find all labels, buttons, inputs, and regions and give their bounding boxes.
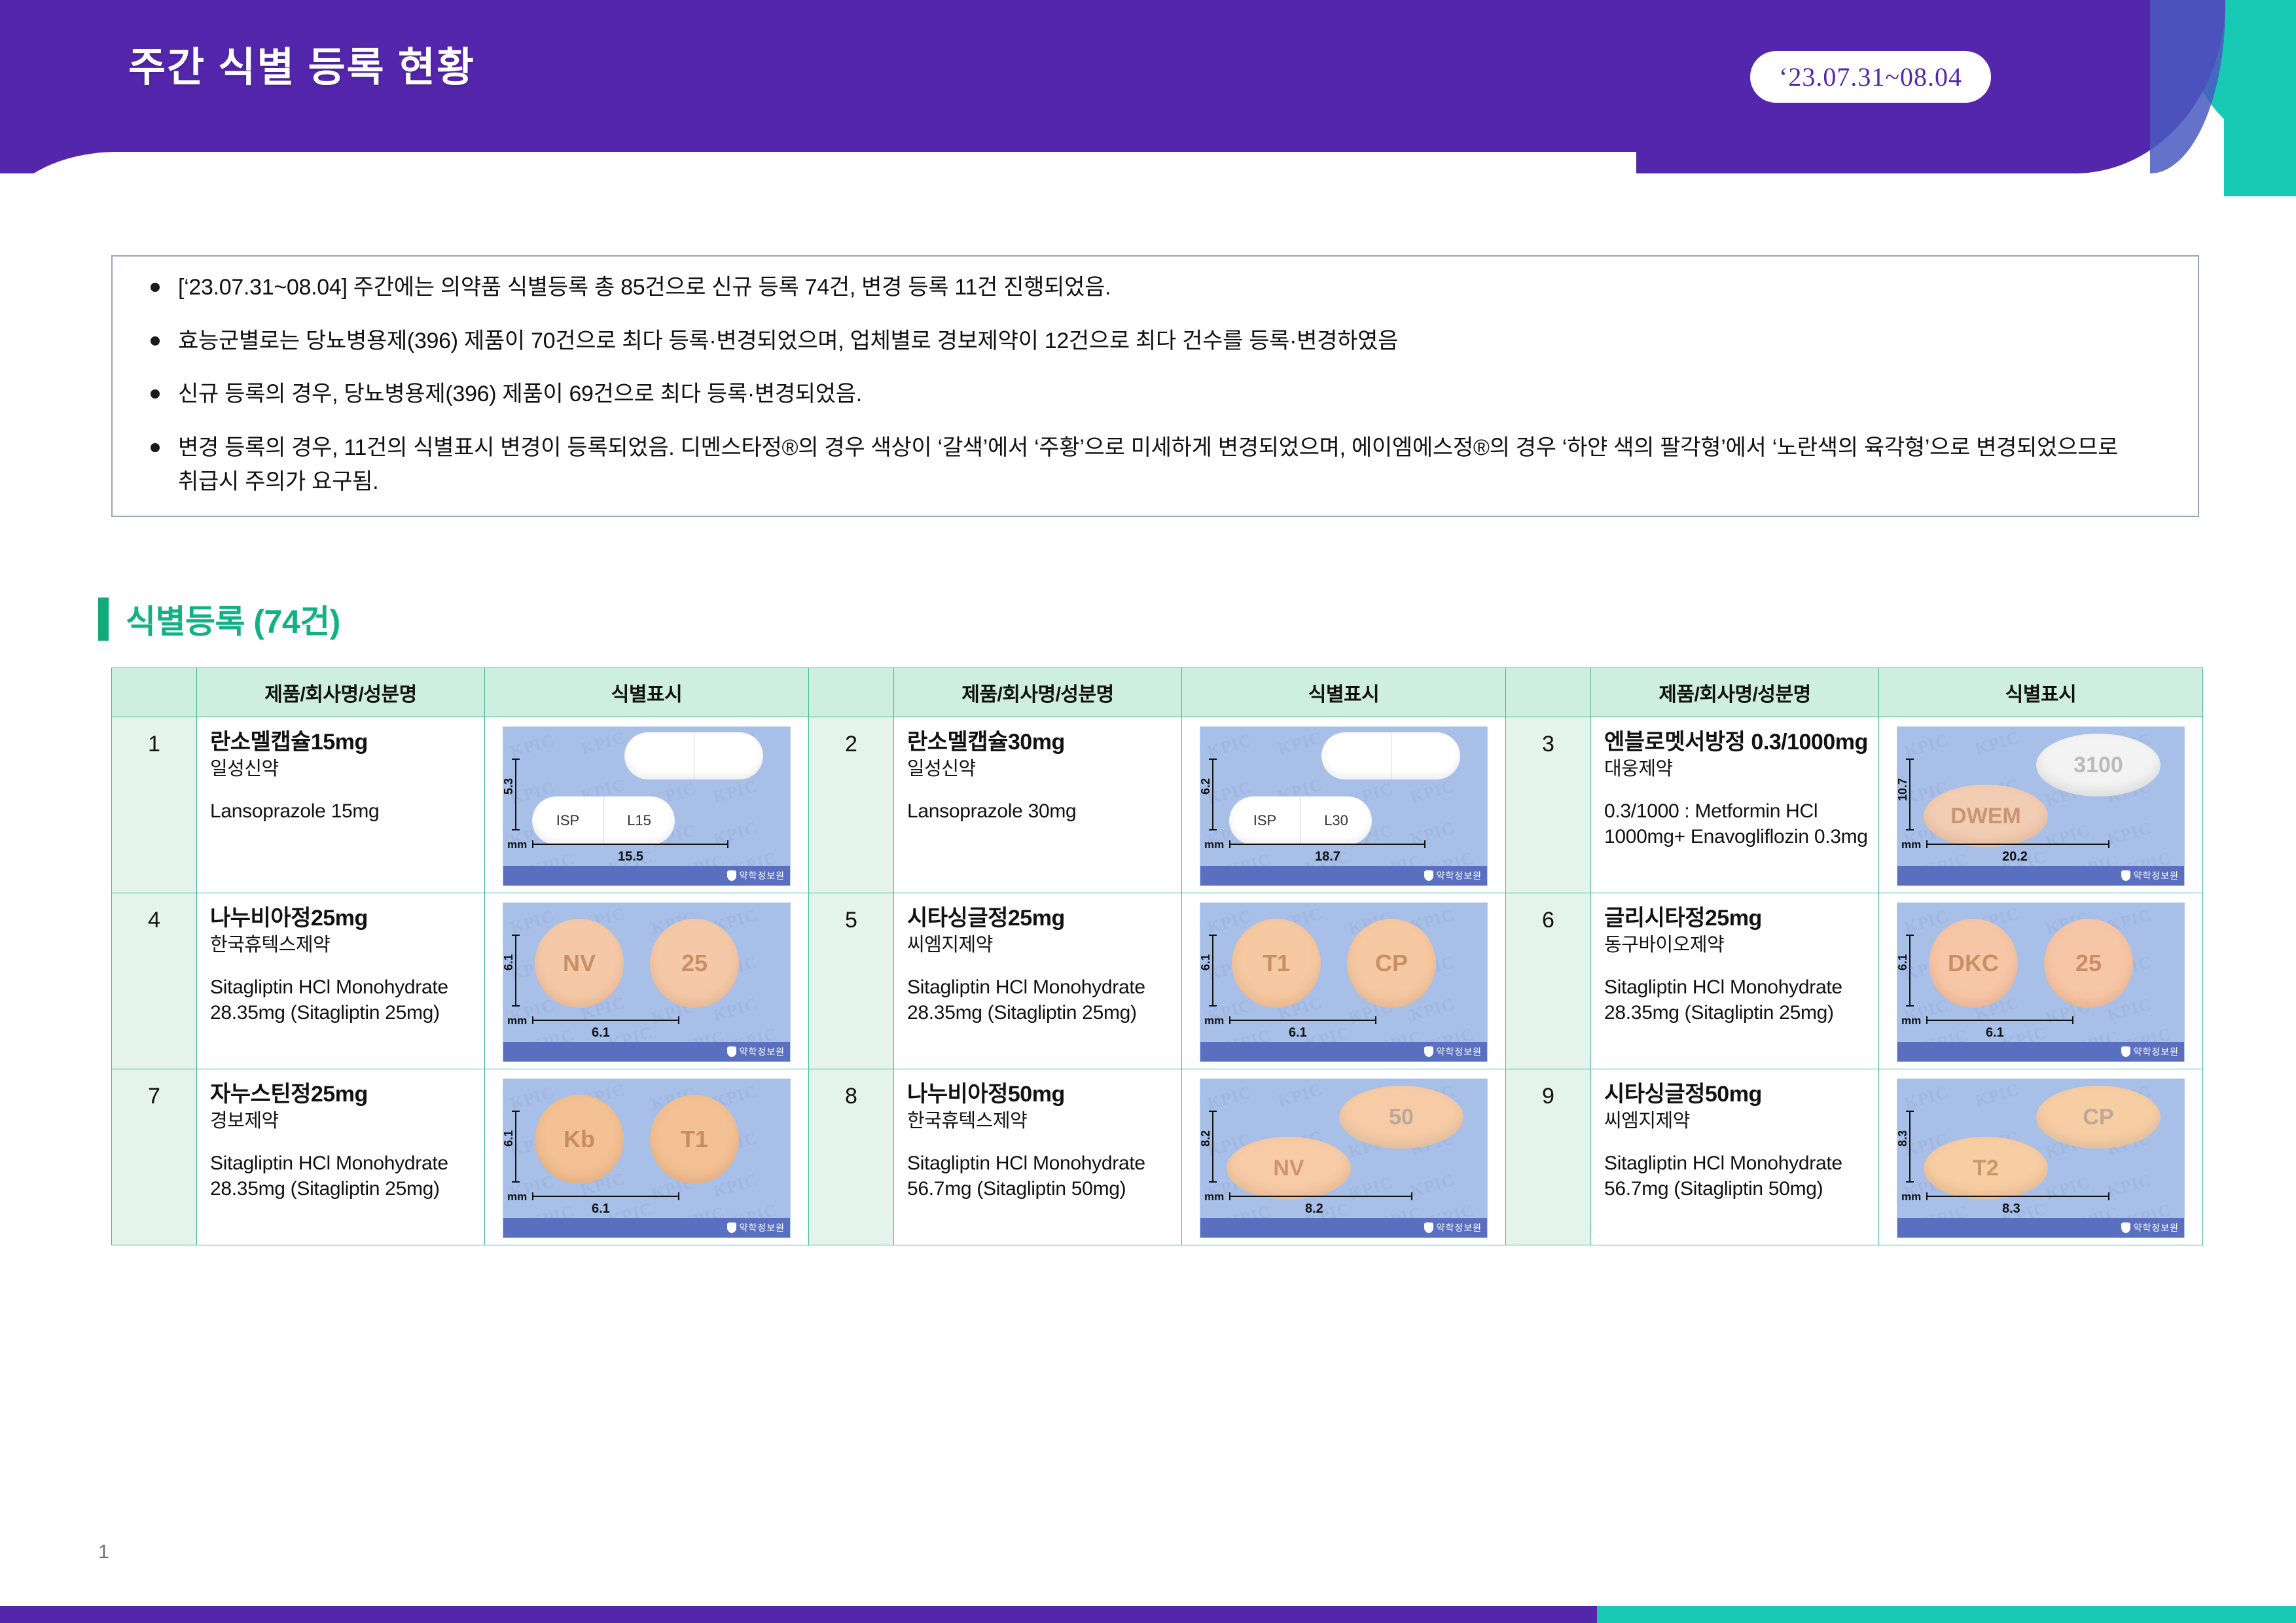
unit-label: mm [1204, 838, 1224, 851]
col-header-info-3: 제품/회사명/성분명 [1591, 668, 1879, 717]
unit-label: mm [1901, 1014, 1921, 1027]
width-dimension-line [532, 1020, 679, 1021]
pill-image-cell: KPICKPICKPICKPICKPICKPICKPICKPICKPICKPIC… [485, 1069, 809, 1245]
shield-icon [2121, 1046, 2130, 1057]
product-name: 엔블로멧서방정 0.3/1000mg [1604, 729, 1869, 756]
pill-image-cell: KPICKPICKPICKPICKPICKPICKPICKPICKPICKPIC… [1879, 893, 2203, 1069]
col-header-image-3: 식별표시 [1879, 668, 2203, 717]
company-name: 일성신약 [907, 757, 1172, 782]
unit-label: mm [507, 1014, 527, 1027]
product-name: 자누스틴정25mg [210, 1081, 475, 1108]
pill-image: KPICKPICKPICKPICKPICKPICKPICKPICKPICKPIC… [503, 1079, 791, 1238]
pill-image: KPICKPICKPICKPICKPICKPICKPICKPICKPICKPIC… [1897, 902, 2185, 1062]
page-title: 주간 식별 등록 현황 [128, 34, 475, 93]
col-header-image-1: 식별표시 [485, 668, 809, 717]
company-name: 한국휴텍스제약 [907, 1109, 1172, 1134]
height-dimension-label: 6.1 [503, 954, 516, 971]
date-range-badge: ‘23.07.31~08.04 [1750, 51, 1991, 103]
table-row: 7자누스틴정25mg경보제약Sitagliptin HCl Monohydrat… [112, 1069, 2203, 1245]
product-name: 시타싱글정25mg [907, 905, 1172, 932]
width-dimension-label: 6.1 [592, 1202, 610, 1217]
width-dimension-label: 8.2 [1305, 1202, 1323, 1217]
summary-bullet-text-2: 효능군별로는 당뇨병용제(396) 제품이 70건으로 최다 등록·변경되었으며… [178, 325, 1398, 359]
col-header-info-2: 제품/회사명/성분명 [894, 668, 1182, 717]
image-source-footer: 약학정보원 [1200, 866, 1487, 885]
shield-icon [1424, 1046, 1433, 1057]
image-source-label: 약학정보원 [2134, 869, 2179, 882]
summary-bullet-text-1: [‘23.07.31~08.04] 주간에는 의약품 식별등록 총 85건으로 … [178, 271, 1111, 305]
height-dimension-label: 5.3 [503, 778, 516, 794]
width-dimension-line [1229, 844, 1426, 845]
image-source-label: 약학정보원 [740, 869, 785, 882]
product-info-cell: 란소멜캡슐15mg일성신약Lansoprazole 15mg [197, 717, 485, 893]
registration-table: 제품/회사명/성분명 식별표시 제품/회사명/성분명 식별표시 제품/회사명/성… [111, 668, 2203, 1245]
product-info-cell: 엔블로멧서방정 0.3/1000mg대웅제약0.3/1000 : Metform… [1591, 717, 1879, 893]
image-source-label: 약학정보원 [1437, 869, 1482, 882]
height-dimension-label: 8.3 [1897, 1130, 1910, 1147]
width-dimension-label: 18.7 [1315, 849, 1340, 865]
row-number-cell: 2 [809, 717, 894, 893]
pill-image-cell: KPICKPICKPICKPICKPICKPICKPICKPICKPICKPIC… [485, 893, 809, 1069]
footer-teal-segment [1597, 1606, 2296, 1623]
ingredient-text: Lansoprazole 30mg [907, 799, 1172, 824]
summary-bullet: 효능군별로는 당뇨병용제(396) 제품이 70건으로 최다 등록·변경되었으며… [136, 325, 2174, 359]
product-name: 글리시타정25mg [1604, 905, 1869, 932]
summary-bullet-text-3: 신규 등록의 경우, 당뇨병용제(396) 제품이 69건으로 최다 등록·변경… [178, 378, 862, 412]
section-title-text: 식별등록 (74건) [126, 596, 340, 643]
row-number-cell: 1 [112, 717, 197, 893]
product-info-cell: 나누비아정25mg한국휴텍스제약Sitagliptin HCl Monohydr… [197, 893, 485, 1069]
col-header-no-2 [809, 668, 894, 717]
col-header-info-1: 제품/회사명/성분명 [197, 668, 485, 717]
height-dimension-label: 6.1 [1200, 954, 1213, 971]
product-info-cell: 시타싱글정50mg씨엠지제약Sitagliptin HCl Monohydrat… [1591, 1069, 1879, 1245]
pill-image-cell: KPICKPICKPICKPICKPICKPICKPICKPICKPICKPIC… [1182, 1069, 1506, 1245]
shield-icon [2121, 1222, 2130, 1233]
ingredient-text: Sitagliptin HCl Monohydrate 56.7mg (Sita… [1604, 1151, 1869, 1202]
pill-image: KPICKPICKPICKPICKPICKPICKPICKPICKPICKPIC… [1897, 1079, 2185, 1238]
summary-box: [‘23.07.31~08.04] 주간에는 의약품 식별등록 총 85건으로 … [111, 255, 2199, 517]
header-purple-accent [2150, 0, 2225, 173]
pill-image: KPICKPICKPICKPICKPICKPICKPICKPICKPICKPIC… [503, 902, 791, 1062]
product-info-cell: 란소멜캡슐30mg일성신약Lansoprazole 30mg [894, 717, 1182, 893]
row-number-cell: 4 [112, 893, 197, 1069]
footer-bar [0, 1606, 2296, 1623]
ingredient-text: Sitagliptin HCl Monohydrate 28.35mg (Sit… [907, 975, 1172, 1026]
table-header-row: 제품/회사명/성분명 식별표시 제품/회사명/성분명 식별표시 제품/회사명/성… [112, 668, 2203, 717]
product-name: 나누비아정50mg [907, 1081, 1172, 1108]
image-source-label: 약학정보원 [2134, 1045, 2179, 1058]
company-name: 동구바이오제약 [1604, 933, 1869, 958]
shield-icon [727, 1222, 736, 1233]
summary-bullet: 신규 등록의 경우, 당뇨병용제(396) 제품이 69건으로 최다 등록·변경… [136, 378, 2174, 412]
bullet-dot-icon [151, 283, 160, 292]
pill-image: KPICKPICKPICKPICKPICKPICKPICKPICKPICKPIC… [1200, 726, 1488, 886]
image-source-footer: 약학정보원 [503, 866, 790, 885]
pill-image: KPICKPICKPICKPICKPICKPICKPICKPICKPICKPIC… [1897, 726, 2185, 886]
width-dimension-label: 6.1 [1289, 1026, 1307, 1041]
row-number-cell: 9 [1506, 1069, 1591, 1245]
image-source-label: 약학정보원 [740, 1045, 785, 1058]
section-accent-bar [98, 597, 109, 641]
row-number-cell: 7 [112, 1069, 197, 1245]
table-body: 1란소멜캡슐15mg일성신약Lansoprazole 15mgKPICKPICK… [112, 717, 2203, 1245]
ingredient-text: Sitagliptin HCl Monohydrate 28.35mg (Sit… [1604, 975, 1869, 1026]
image-source-footer: 약학정보원 [1897, 866, 2184, 885]
unit-label: mm [507, 838, 527, 851]
height-dimension-label: 10.7 [1897, 778, 1910, 801]
shield-icon [1424, 870, 1433, 881]
image-source-footer: 약학정보원 [1897, 1042, 2184, 1061]
width-dimension-line [532, 1196, 679, 1197]
col-header-no-3 [1506, 668, 1591, 717]
width-dimension-label: 8.3 [2002, 1202, 2020, 1217]
pill-image-cell: KPICKPICKPICKPICKPICKPICKPICKPICKPICKPIC… [1879, 1069, 2203, 1245]
row-number-cell: 5 [809, 893, 894, 1069]
header-bottom-curve [0, 152, 1636, 196]
image-source-label: 약학정보원 [1437, 1045, 1482, 1058]
shield-icon [1424, 1222, 1433, 1233]
height-dimension-label: 6.1 [1897, 954, 1910, 971]
ingredient-text: Lansoprazole 15mg [210, 799, 475, 824]
width-dimension-line [1926, 844, 2109, 845]
image-source-footer: 약학정보원 [1200, 1042, 1487, 1061]
bullet-dot-icon [151, 443, 160, 452]
summary-bullet: [‘23.07.31~08.04] 주간에는 의약품 식별등록 총 85건으로 … [136, 271, 2174, 305]
pill-image-cell: KPICKPICKPICKPICKPICKPICKPICKPICKPICKPIC… [485, 717, 809, 893]
product-name: 란소멜캡슐30mg [907, 729, 1172, 756]
table-row: 1란소멜캡슐15mg일성신약Lansoprazole 15mgKPICKPICK… [112, 717, 2203, 893]
unit-label: mm [1901, 1190, 1921, 1204]
bullet-dot-icon [151, 336, 160, 346]
product-info-cell: 나누비아정50mg한국휴텍스제약Sitagliptin HCl Monohydr… [894, 1069, 1182, 1245]
image-source-label: 약학정보원 [2134, 1221, 2179, 1234]
pill-image: KPICKPICKPICKPICKPICKPICKPICKPICKPICKPIC… [1200, 1079, 1488, 1238]
width-dimension-line [1926, 1196, 2109, 1197]
pill-image-cell: KPICKPICKPICKPICKPICKPICKPICKPICKPICKPIC… [1879, 717, 2203, 893]
width-dimension-line [532, 844, 728, 845]
bullet-dot-icon [151, 389, 160, 399]
image-source-footer: 약학정보원 [503, 1042, 790, 1061]
company-name: 한국휴텍스제약 [210, 933, 475, 958]
unit-label: mm [1901, 838, 1921, 851]
width-dimension-label: 20.2 [2002, 849, 2028, 865]
company-name: 씨엠지제약 [907, 933, 1172, 958]
width-dimension-label: 6.1 [1986, 1026, 2004, 1041]
width-dimension-line [1229, 1020, 1376, 1021]
height-dimension-label: 6.2 [1200, 778, 1213, 794]
col-header-image-2: 식별표시 [1182, 668, 1506, 717]
company-name: 씨엠지제약 [1604, 1109, 1869, 1134]
product-info-cell: 글리시타정25mg동구바이오제약Sitagliptin HCl Monohydr… [1591, 893, 1879, 1069]
company-name: 경보제약 [210, 1109, 475, 1134]
ingredient-text: Sitagliptin HCl Monohydrate 28.35mg (Sit… [210, 1151, 475, 1202]
ingredient-text: Sitagliptin HCl Monohydrate 28.35mg (Sit… [210, 975, 475, 1026]
ingredient-text: 0.3/1000 : Metformin HCl 1000mg+ Enavogl… [1604, 799, 1869, 849]
pill-image: KPICKPICKPICKPICKPICKPICKPICKPICKPICKPIC… [503, 726, 791, 886]
image-source-footer: 약학정보원 [1200, 1218, 1487, 1238]
row-number-cell: 6 [1506, 893, 1591, 1069]
image-source-footer: 약학정보원 [503, 1218, 790, 1238]
unit-label: mm [1204, 1190, 1224, 1204]
table-row: 4나누비아정25mg한국휴텍스제약Sitagliptin HCl Monohyd… [112, 893, 2203, 1069]
product-name: 시타싱글정50mg [1604, 1081, 1869, 1108]
unit-label: mm [507, 1190, 527, 1204]
summary-bullet-text-4: 변경 등록의 경우, 11건의 식별표시 변경이 등록되었음. 디멘스타정®의 … [178, 431, 2174, 499]
col-header-no-1 [112, 668, 197, 717]
image-source-label: 약학정보원 [740, 1221, 785, 1234]
summary-bullet: 변경 등록의 경우, 11건의 식별표시 변경이 등록되었음. 디멘스타정®의 … [136, 431, 2174, 499]
product-info-cell: 시타싱글정25mg씨엠지제약Sitagliptin HCl Monohydrat… [894, 893, 1182, 1069]
product-name: 란소멜캡슐15mg [210, 729, 475, 756]
height-dimension-label: 6.1 [503, 1130, 516, 1147]
shield-icon [2121, 870, 2130, 881]
pill-image-cell: KPICKPICKPICKPICKPICKPICKPICKPICKPICKPIC… [1182, 893, 1506, 1069]
company-name: 일성신약 [210, 757, 475, 782]
shield-icon [727, 1046, 736, 1057]
section-heading: 식별등록 (74건) [98, 596, 340, 643]
page-header: 주간 식별 등록 현황 ‘23.07.31~08.04 [0, 0, 2296, 196]
unit-label: mm [1204, 1014, 1224, 1027]
pill-image: KPICKPICKPICKPICKPICKPICKPICKPICKPICKPIC… [1200, 902, 1488, 1062]
shield-icon [727, 870, 736, 881]
width-dimension-line [1229, 1196, 1412, 1197]
height-dimension-label: 8.2 [1200, 1130, 1213, 1147]
width-dimension-label: 6.1 [592, 1026, 610, 1041]
ingredient-text: Sitagliptin HCl Monohydrate 56.7mg (Sita… [907, 1151, 1172, 1202]
product-info-cell: 자누스틴정25mg경보제약Sitagliptin HCl Monohydrate… [197, 1069, 485, 1245]
row-number-cell: 8 [809, 1069, 894, 1245]
footer-purple-segment [0, 1606, 1636, 1623]
width-dimension-line [1926, 1020, 2073, 1021]
width-dimension-label: 15.5 [618, 849, 643, 865]
image-source-footer: 약학정보원 [1897, 1218, 2184, 1238]
row-number-cell: 3 [1506, 717, 1591, 893]
page-number: 1 [98, 1541, 109, 1563]
pill-image-cell: KPICKPICKPICKPICKPICKPICKPICKPICKPICKPIC… [1182, 717, 1506, 893]
company-name: 대웅제약 [1604, 757, 1869, 782]
product-name: 나누비아정25mg [210, 905, 475, 932]
image-source-label: 약학정보원 [1437, 1221, 1482, 1234]
